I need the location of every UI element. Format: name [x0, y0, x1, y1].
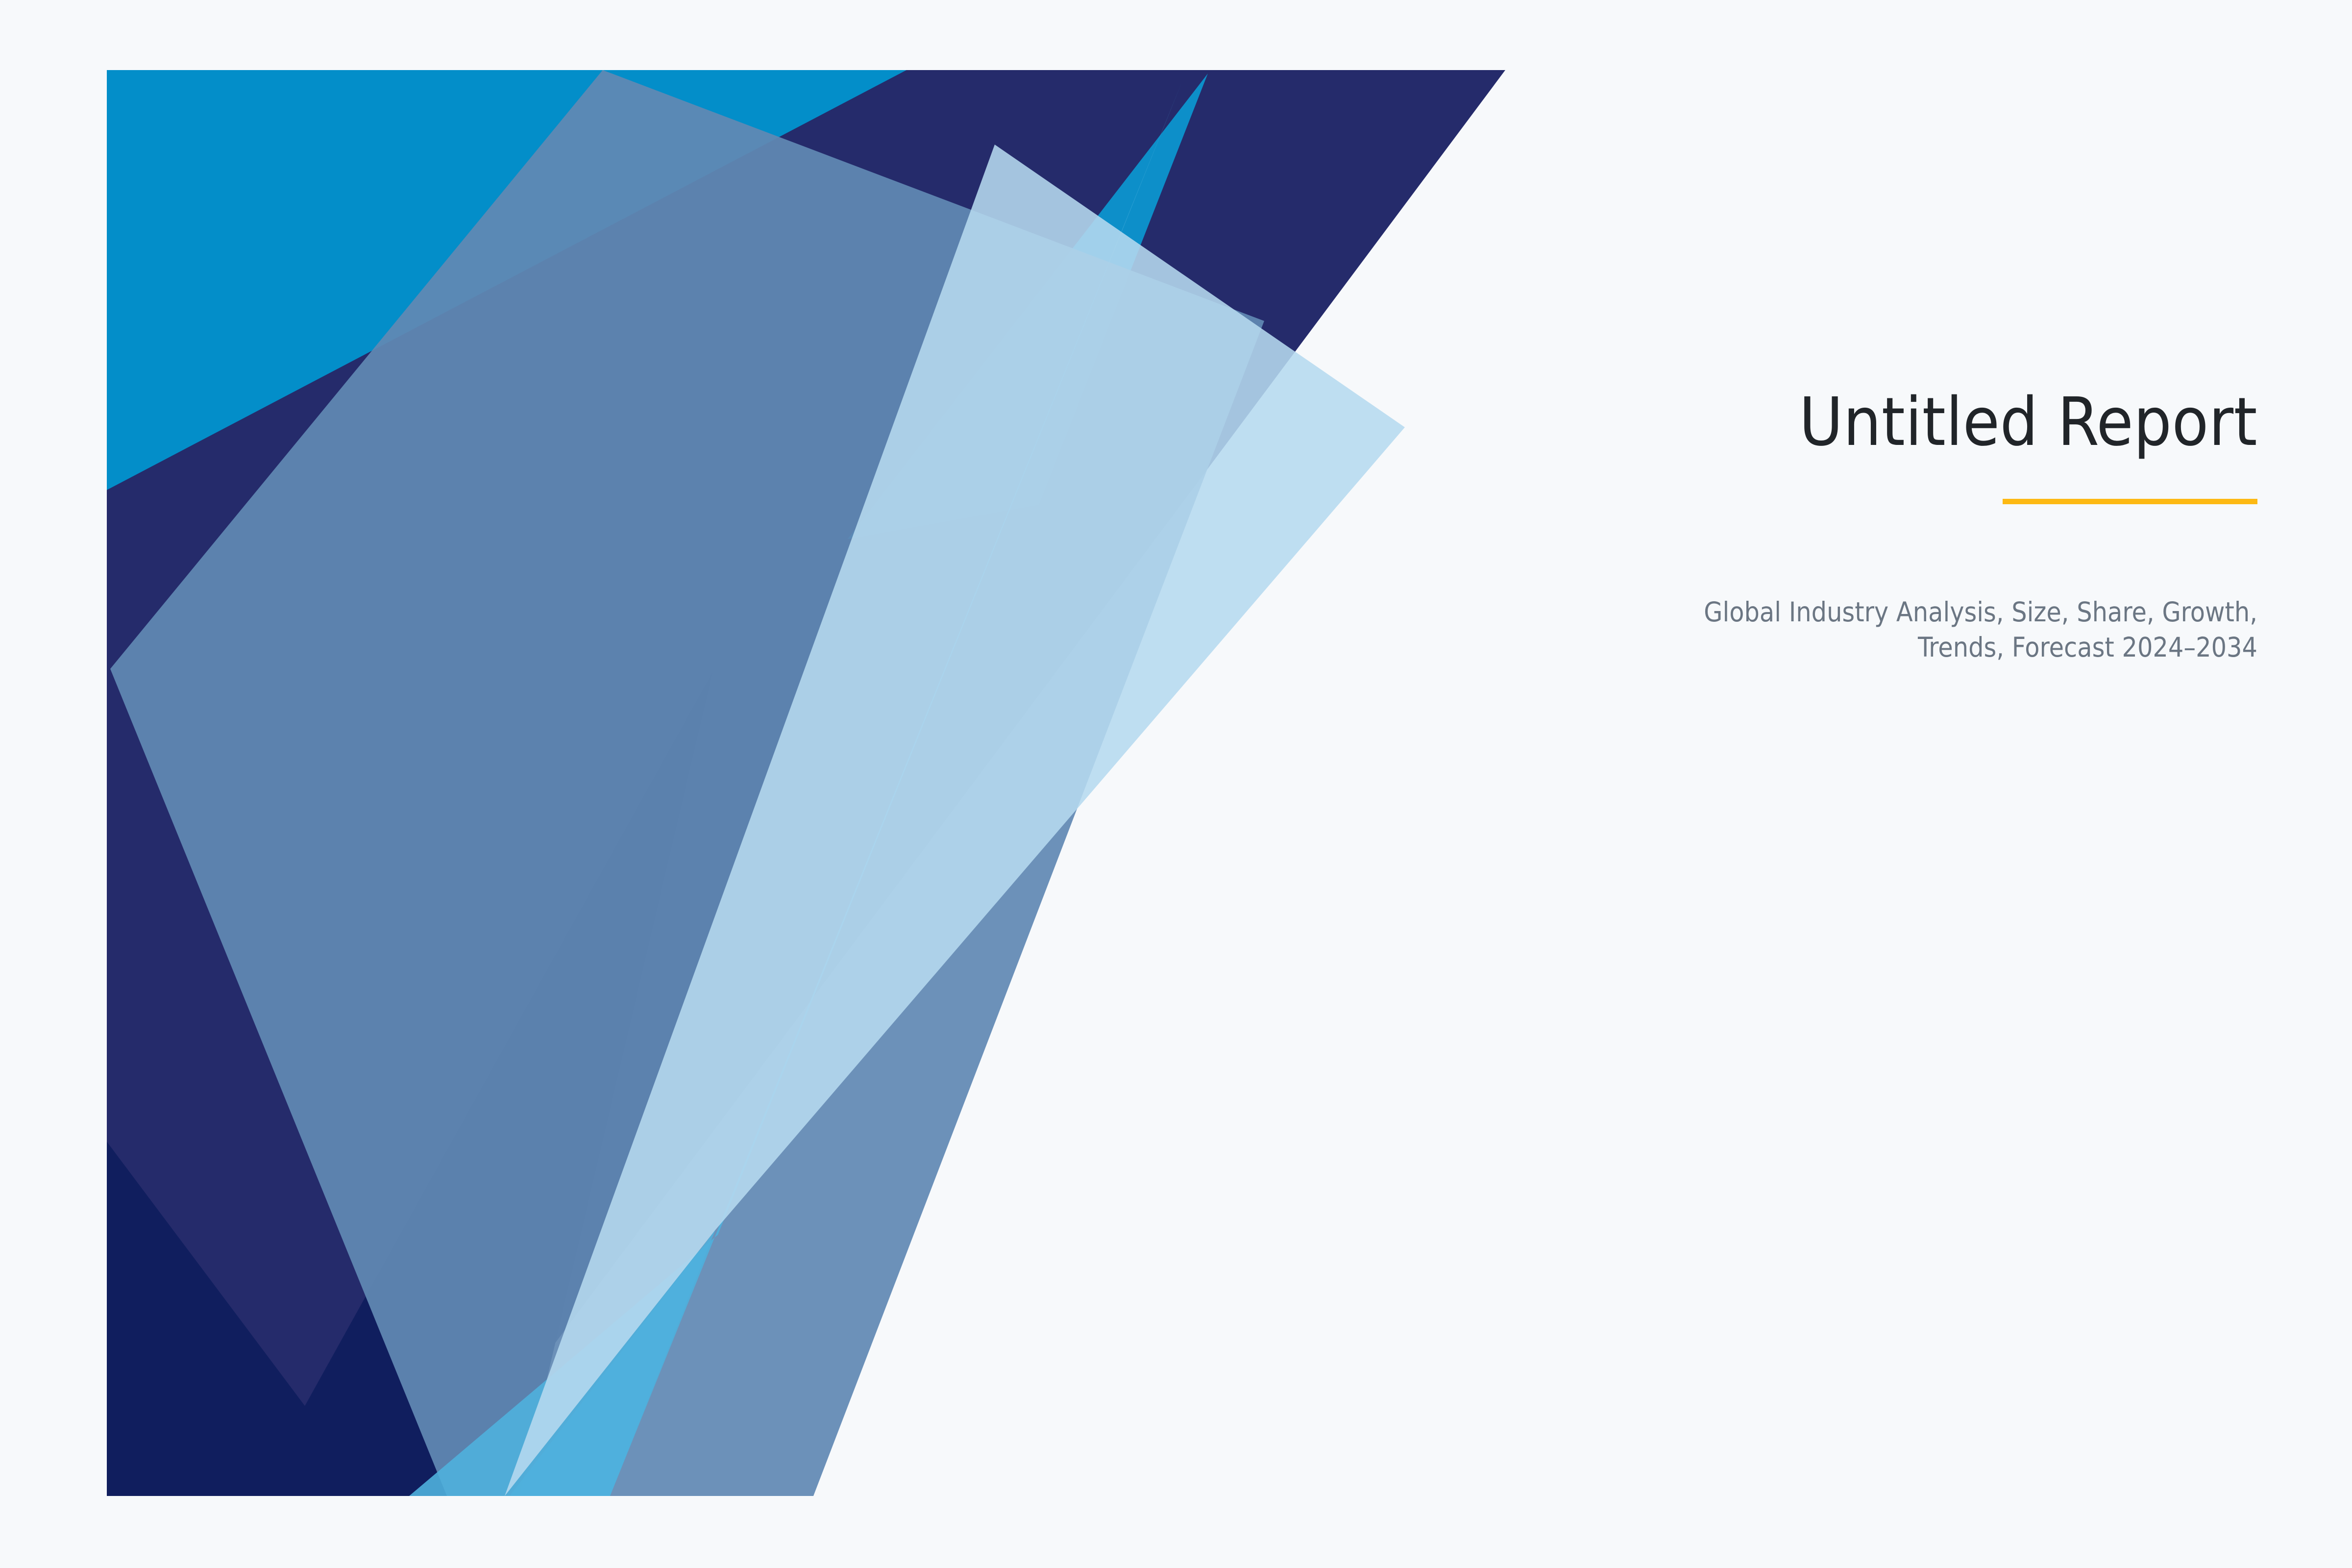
report-title: Untitled Report	[1799, 0, 2257, 458]
cover-title-block: Untitled Report Global Industry Analysis…	[1568, 0, 2352, 1568]
title-accent-rule	[2003, 499, 2257, 504]
cover-artwork	[0, 0, 1568, 1568]
report-subtitle: Global Industry Analysis, Size, Share, G…	[1625, 504, 2257, 665]
report-cover-page: Untitled Report Global Industry Analysis…	[0, 0, 2352, 1568]
